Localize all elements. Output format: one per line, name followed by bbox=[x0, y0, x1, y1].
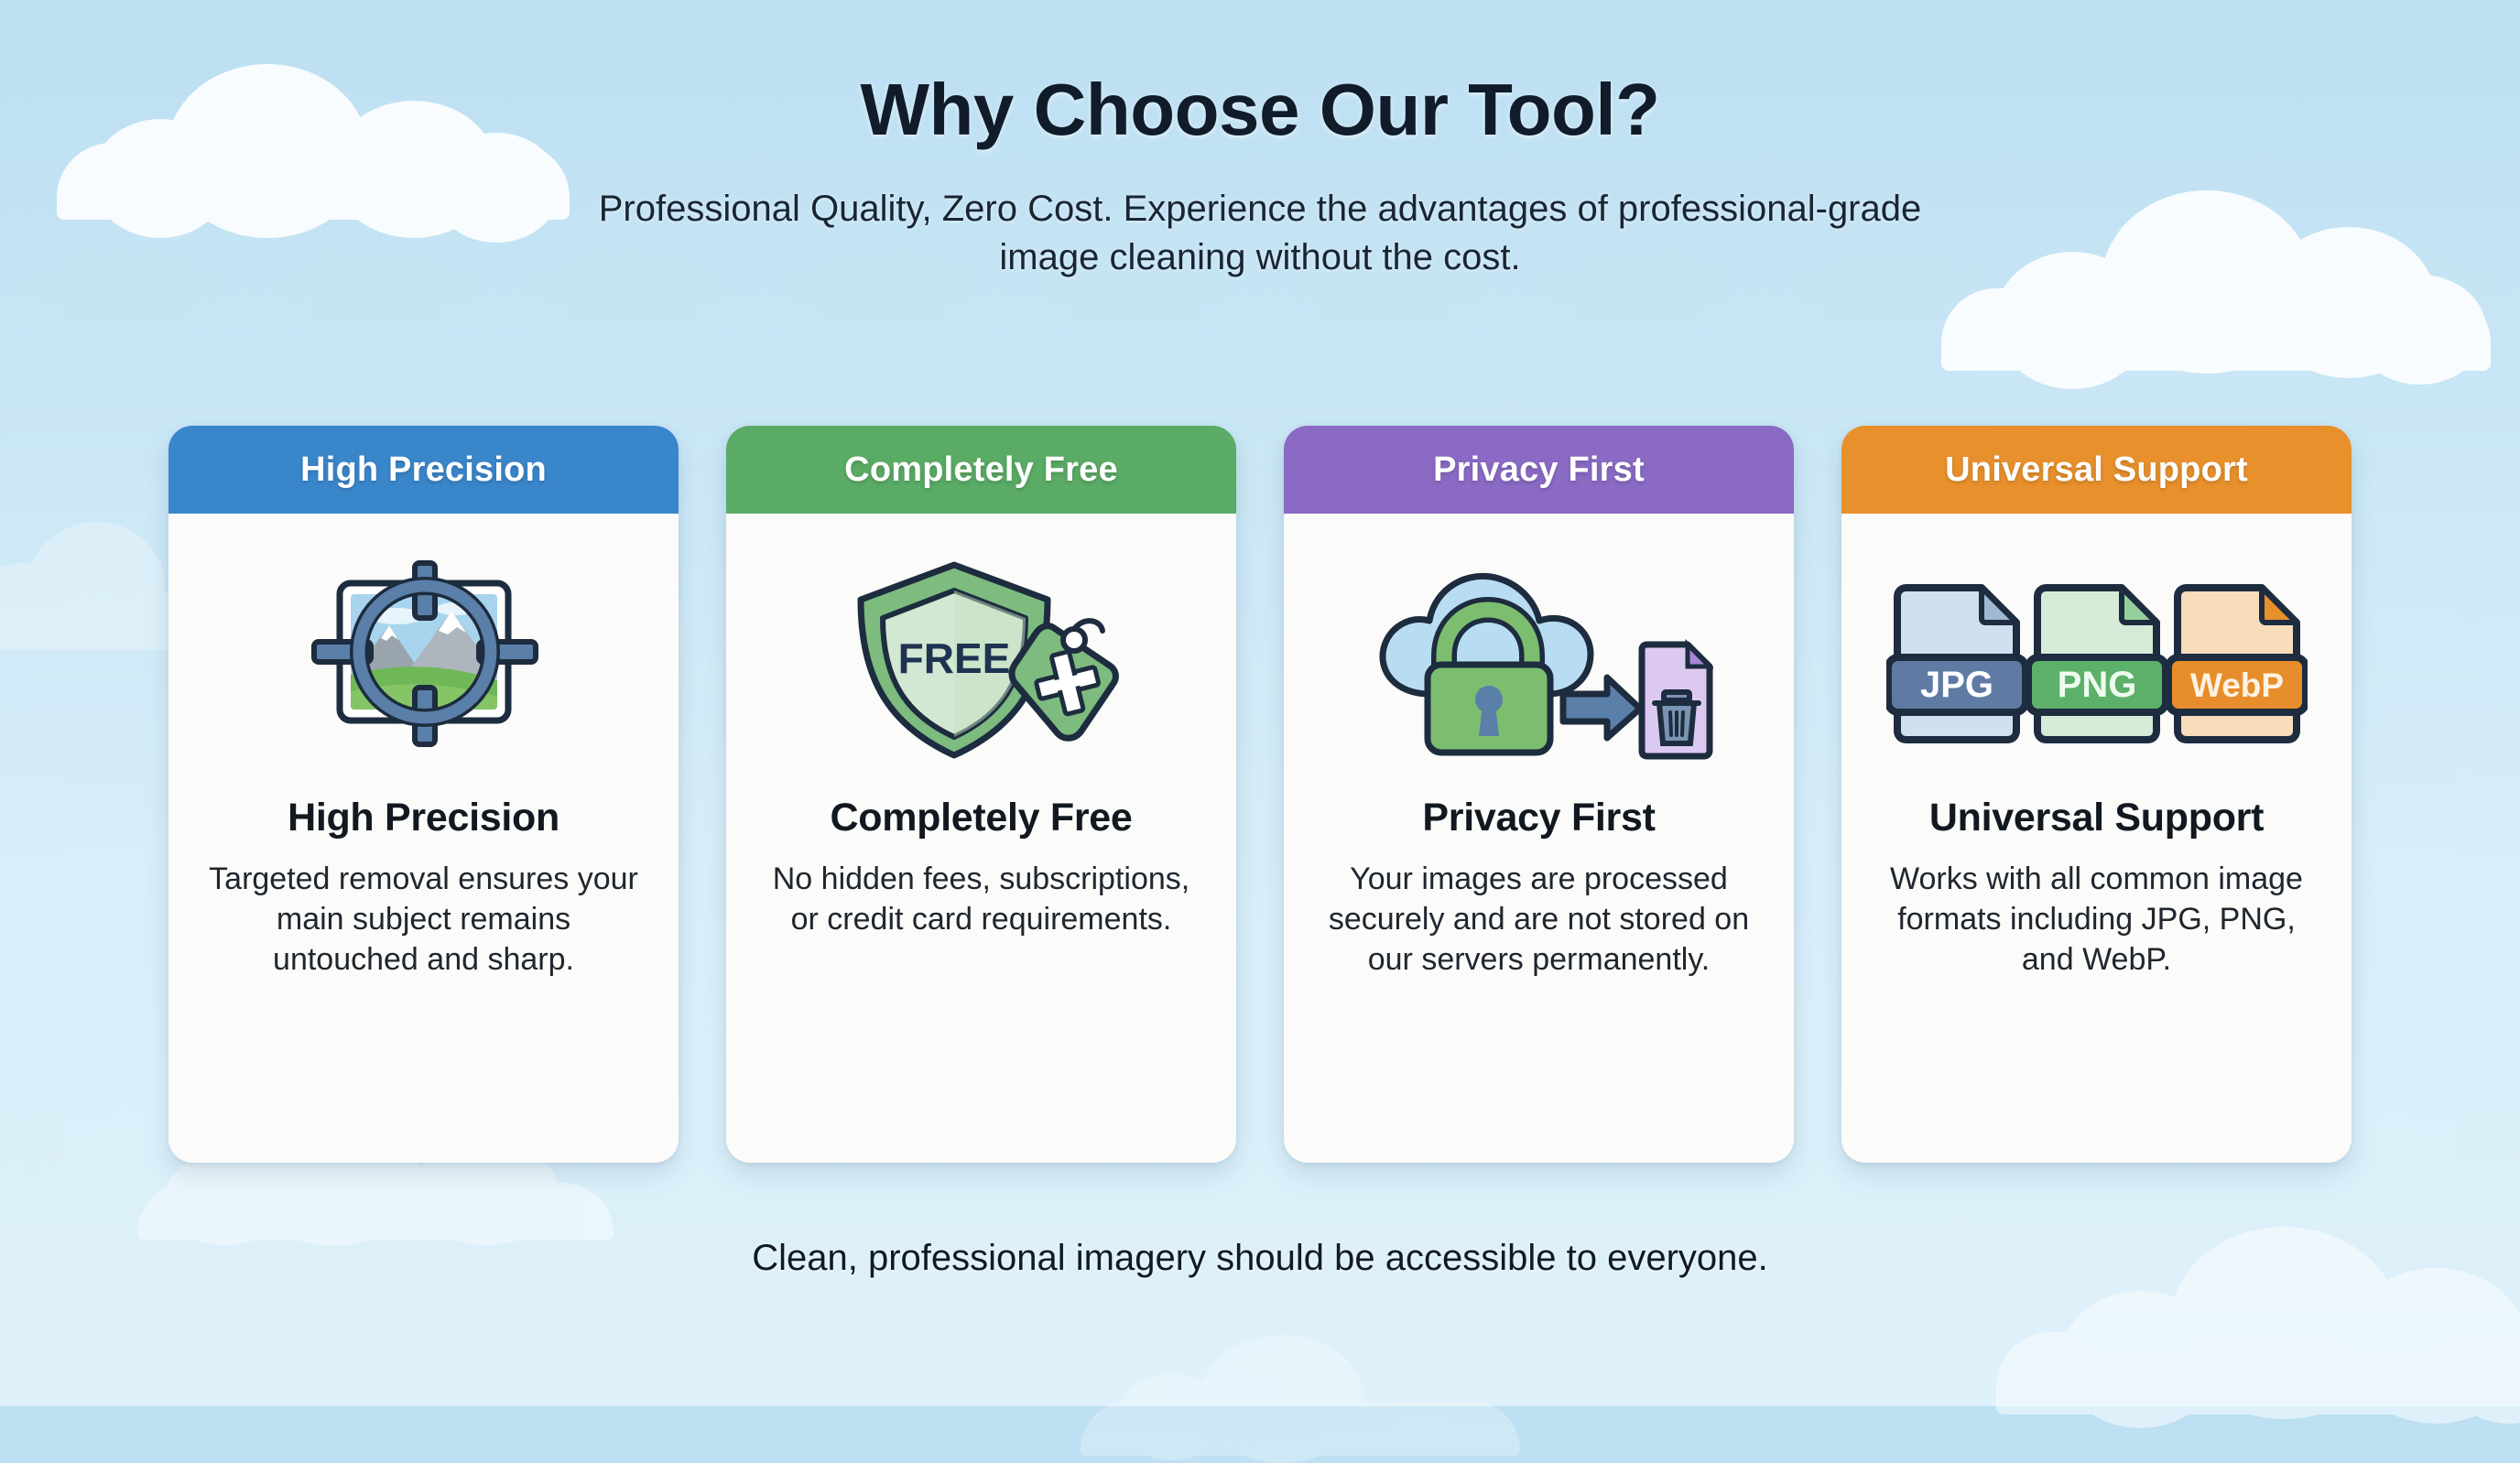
card-body: FREE Completely Free No hi bbox=[726, 514, 1236, 1163]
card-description: Works with all common image formats incl… bbox=[1874, 859, 2319, 981]
card-header-high-precision: High Precision bbox=[168, 426, 679, 514]
card-header-universal-support: Universal Support bbox=[1841, 426, 2352, 514]
card-body: Privacy First Your images are processed … bbox=[1284, 514, 1794, 1163]
feature-card-privacy-first[interactable]: Privacy First bbox=[1284, 426, 1794, 1163]
card-description: Targeted removal ensures your main subje… bbox=[201, 859, 646, 981]
card-header-privacy-first: Privacy First bbox=[1284, 426, 1794, 514]
page-subtitle: Professional Quality, Zero Cost. Experie… bbox=[555, 185, 1965, 282]
card-title: High Precision bbox=[288, 796, 559, 840]
card-body: JPG PNG bbox=[1841, 514, 2352, 1163]
cloud-lock-delete-icon bbox=[1317, 545, 1761, 774]
footer-tagline: Clean, professional imagery should be ac… bbox=[0, 1238, 2520, 1279]
file-icon-jpg: JPG bbox=[1888, 588, 2026, 740]
file-icon-png: PNG bbox=[2028, 588, 2166, 740]
card-description: No hidden fees, subscriptions, or credit… bbox=[759, 859, 1203, 939]
card-header-completely-free: Completely Free bbox=[726, 426, 1236, 514]
feature-card-list: High Precision bbox=[168, 426, 2352, 1163]
svg-text:PNG: PNG bbox=[2057, 665, 2136, 705]
crosshair-photo-icon bbox=[201, 545, 646, 774]
page-root: Why Choose Our Tool? Professional Qualit… bbox=[0, 0, 2520, 1406]
card-title: Privacy First bbox=[1422, 796, 1655, 840]
card-body: High Precision Targeted removal ensures … bbox=[168, 514, 679, 1163]
card-title: Universal Support bbox=[1929, 796, 2264, 840]
shield-free-label: FREE bbox=[897, 634, 1010, 682]
feature-card-high-precision[interactable]: High Precision bbox=[168, 426, 679, 1163]
feature-card-universal-support[interactable]: Universal Support JPG bbox=[1841, 426, 2352, 1163]
hero-section: Why Choose Our Tool? Professional Qualit… bbox=[0, 0, 2520, 282]
file-formats-icon: JPG PNG bbox=[1874, 545, 2319, 774]
card-description: Your images are processed securely and a… bbox=[1317, 859, 1761, 981]
feature-card-completely-free[interactable]: Completely Free FREE bbox=[726, 426, 1236, 1163]
free-shield-tag-icon: FREE bbox=[759, 545, 1203, 774]
file-icon-webp: WebP bbox=[2168, 588, 2306, 740]
page-title: Why Choose Our Tool? bbox=[0, 71, 2520, 148]
card-title: Completely Free bbox=[830, 796, 1132, 840]
svg-text:WebP: WebP bbox=[2189, 666, 2283, 704]
svg-text:JPG: JPG bbox=[1919, 665, 1993, 705]
